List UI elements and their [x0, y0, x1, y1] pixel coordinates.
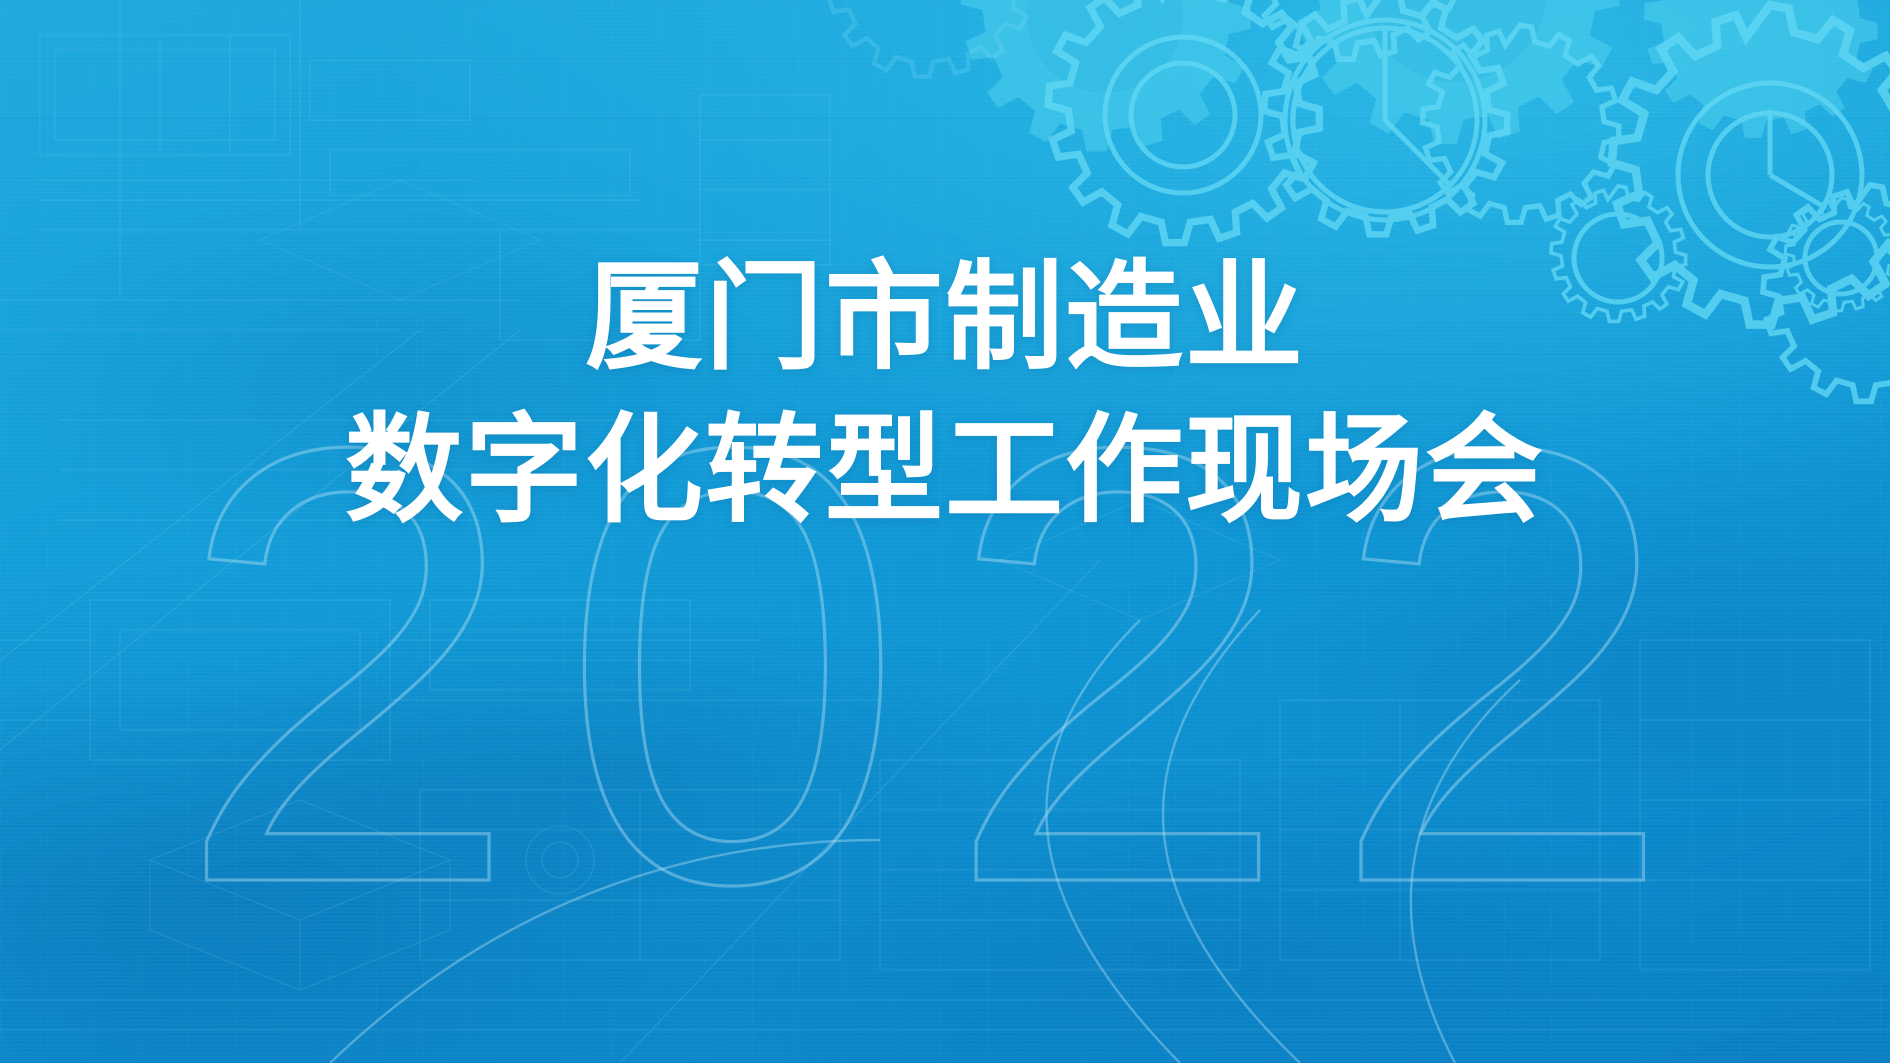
poster-canvas: 2022 厦门市制造业 数字化转型工作现场会	[0, 0, 1890, 1063]
page-title-line-1: 厦门市制造业	[0, 255, 1890, 382]
page-title-line-2: 数字化转型工作现场会	[0, 408, 1890, 535]
poster-title-block: 厦门市制造业 数字化转型工作现场会	[0, 255, 1890, 536]
